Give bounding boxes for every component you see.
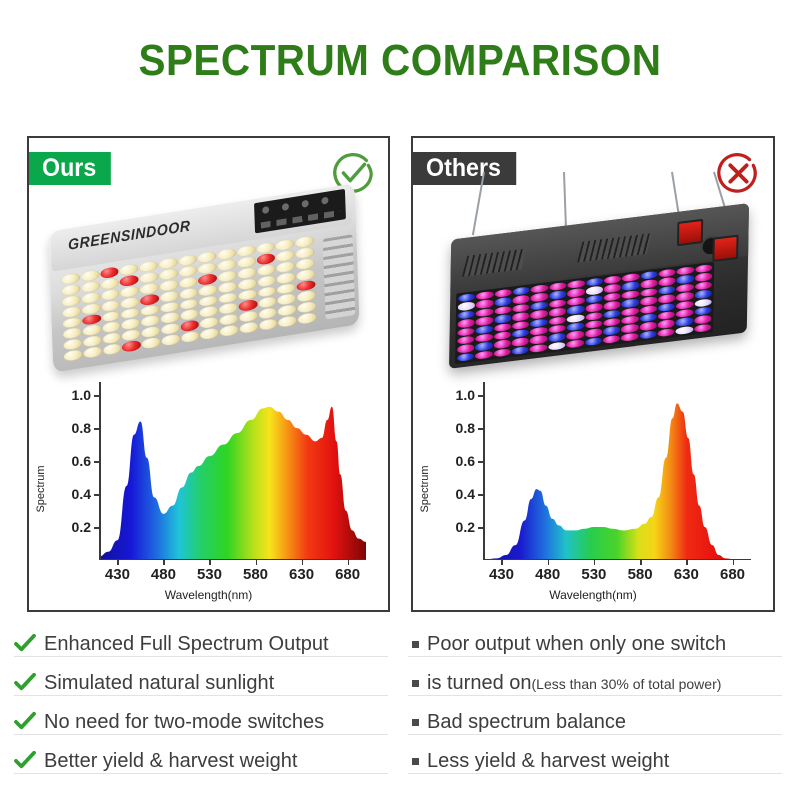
led xyxy=(676,300,693,310)
x-tick-label: 630 xyxy=(674,566,699,583)
led xyxy=(159,257,178,270)
led xyxy=(603,317,620,327)
x-tick xyxy=(640,560,642,565)
led xyxy=(658,269,675,279)
y-tick-label: 0.2 xyxy=(456,519,475,535)
led xyxy=(621,307,638,317)
led xyxy=(80,269,99,282)
led xyxy=(548,341,565,351)
led xyxy=(239,299,258,312)
led xyxy=(585,337,602,347)
led xyxy=(603,309,620,319)
y-tick-label: 0.6 xyxy=(456,453,475,469)
led xyxy=(276,260,295,273)
led xyxy=(604,284,621,294)
led xyxy=(676,325,693,335)
led xyxy=(139,271,158,284)
led xyxy=(476,316,493,326)
led xyxy=(494,331,511,341)
led xyxy=(181,331,200,344)
others-panel: Others xyxy=(411,136,775,612)
x-tick xyxy=(348,560,350,565)
led xyxy=(567,288,584,298)
led xyxy=(82,324,101,337)
led xyxy=(585,303,602,313)
y-axis-line xyxy=(483,382,485,560)
led xyxy=(512,329,529,339)
led xyxy=(296,246,315,259)
led xyxy=(297,290,316,303)
led xyxy=(295,235,314,248)
y-tick xyxy=(94,527,99,529)
led xyxy=(62,305,81,318)
others-product-photo xyxy=(413,182,773,372)
led xyxy=(694,289,711,299)
others-spectrum-chart: 0.20.40.60.81.0430480530580630680 Spectr… xyxy=(421,374,765,604)
led xyxy=(457,327,474,337)
led xyxy=(238,288,257,301)
led xyxy=(257,252,276,265)
led xyxy=(100,266,119,279)
led xyxy=(200,316,219,329)
led xyxy=(585,286,602,296)
led xyxy=(640,305,657,315)
led xyxy=(102,321,121,334)
led xyxy=(475,350,492,360)
led xyxy=(494,297,511,307)
x-tick-label: 680 xyxy=(335,566,360,583)
led xyxy=(457,335,474,345)
led xyxy=(217,259,236,272)
led xyxy=(640,279,657,289)
led xyxy=(159,279,178,292)
ours-banner-label: Ours xyxy=(42,154,96,183)
list-item-label: Simulated natural sunlight xyxy=(44,673,274,693)
square-bullet-icon xyxy=(412,758,419,765)
led xyxy=(657,328,674,338)
led xyxy=(61,283,80,296)
led xyxy=(140,293,159,306)
led xyxy=(658,311,675,321)
led xyxy=(567,330,584,340)
led xyxy=(198,251,217,264)
others-banner-label: Others xyxy=(426,154,501,183)
led xyxy=(141,304,160,317)
y-tick-label: 1.0 xyxy=(456,387,475,403)
led xyxy=(258,307,277,320)
x-tick-label: 530 xyxy=(197,566,222,583)
led xyxy=(548,333,565,343)
list-item-label: Enhanced Full Spectrum Output xyxy=(44,634,329,654)
led xyxy=(81,291,100,304)
led xyxy=(530,326,547,336)
x-axis-title: Wavelength(nm) xyxy=(421,588,765,602)
led xyxy=(81,280,100,293)
led xyxy=(278,304,297,317)
others-led-panel xyxy=(449,203,749,369)
led xyxy=(585,294,602,304)
led xyxy=(121,296,140,309)
page-title: SPECTRUM COMPARISON xyxy=(32,36,768,86)
list-item: Poor output when only one switch xyxy=(408,618,782,657)
led xyxy=(198,273,217,286)
led xyxy=(259,318,278,331)
y-tick-label: 0.8 xyxy=(72,420,91,436)
x-tick-label: 480 xyxy=(535,566,560,583)
led xyxy=(621,324,638,334)
led xyxy=(178,254,197,267)
led xyxy=(493,348,510,358)
x-tick xyxy=(209,560,211,565)
led xyxy=(694,323,711,333)
led xyxy=(82,313,101,326)
x-tick-label: 680 xyxy=(720,566,745,583)
led xyxy=(239,310,258,323)
led xyxy=(622,290,639,300)
led xyxy=(101,299,120,312)
led xyxy=(83,335,102,348)
led xyxy=(161,323,180,336)
led xyxy=(100,277,119,290)
led xyxy=(296,257,315,270)
led xyxy=(549,299,566,309)
led xyxy=(567,280,584,290)
led xyxy=(102,332,121,345)
led xyxy=(658,277,675,287)
y-tick-label: 0.8 xyxy=(456,420,475,436)
x-tick xyxy=(594,560,596,565)
led xyxy=(694,306,711,316)
led xyxy=(640,271,657,281)
led xyxy=(278,315,297,328)
led xyxy=(695,281,712,291)
led xyxy=(549,282,566,292)
x-axis-line xyxy=(483,559,751,561)
led xyxy=(237,245,256,258)
led xyxy=(585,311,602,321)
led xyxy=(603,326,620,336)
led xyxy=(62,294,81,307)
check-icon xyxy=(14,634,36,652)
led xyxy=(512,303,529,313)
led xyxy=(199,306,218,319)
led xyxy=(676,317,693,327)
led xyxy=(494,306,511,316)
led xyxy=(476,325,493,335)
led xyxy=(639,321,656,331)
led xyxy=(141,326,160,339)
led xyxy=(658,285,675,295)
led xyxy=(119,263,138,276)
led xyxy=(199,284,218,297)
check-icon xyxy=(14,673,36,691)
square-bullet-icon xyxy=(412,641,419,648)
y-tick xyxy=(478,428,483,430)
led xyxy=(457,352,474,362)
led xyxy=(219,302,238,315)
led xyxy=(297,279,316,292)
led xyxy=(621,332,638,342)
spectrum-comparison-page: SPECTRUM COMPARISON Ours GREENSINDOOR xyxy=(0,0,800,800)
led xyxy=(531,310,548,320)
led xyxy=(276,249,295,262)
x-tick xyxy=(733,560,735,565)
led xyxy=(476,308,493,318)
led xyxy=(622,273,639,283)
led xyxy=(277,282,296,295)
list-item-label: Bad spectrum balance xyxy=(427,712,626,732)
led xyxy=(567,314,584,324)
x-tick xyxy=(163,560,165,565)
led xyxy=(567,305,584,315)
led xyxy=(494,322,511,332)
led xyxy=(179,276,198,289)
list-item-label: No need for two-mode switches xyxy=(44,712,324,732)
led xyxy=(658,319,675,329)
led xyxy=(218,281,237,294)
led xyxy=(160,301,179,314)
heatsink-vents xyxy=(323,234,355,319)
y-tick xyxy=(94,494,99,496)
led xyxy=(512,346,529,356)
list-item-label: Poor output when only one switch xyxy=(427,634,726,654)
led xyxy=(122,340,141,353)
led xyxy=(676,309,693,319)
led xyxy=(677,266,694,276)
led xyxy=(277,271,296,284)
y-tick-label: 0.4 xyxy=(456,486,475,502)
led xyxy=(549,316,566,326)
led xyxy=(61,272,80,285)
greensindoor-led-panel: GREENSINDOOR xyxy=(48,183,359,372)
led xyxy=(476,291,493,301)
led xyxy=(585,320,602,330)
led xyxy=(276,238,295,251)
led xyxy=(695,264,712,274)
led xyxy=(198,262,217,275)
x-axis-title: Wavelength(nm) xyxy=(37,588,380,602)
led xyxy=(531,301,548,311)
led xyxy=(237,256,256,269)
led xyxy=(476,333,493,343)
led xyxy=(122,329,141,342)
square-bullet-icon xyxy=(412,680,419,687)
x-tick xyxy=(548,560,550,565)
led xyxy=(258,296,277,309)
led xyxy=(219,313,238,326)
led xyxy=(298,312,317,325)
led xyxy=(256,241,275,254)
led xyxy=(140,282,159,295)
x-tick xyxy=(501,560,503,565)
led xyxy=(220,324,239,337)
ours-benefit-list: Enhanced Full Spectrum OutputSimulated n… xyxy=(14,618,388,774)
led xyxy=(296,268,315,281)
led xyxy=(160,290,179,303)
led xyxy=(458,318,475,328)
x-tick-label: 630 xyxy=(289,566,314,583)
x-tick xyxy=(256,560,258,565)
led xyxy=(603,301,620,311)
others-drawback-list: Poor output when only one switchis turne… xyxy=(408,618,782,774)
list-item: Enhanced Full Spectrum Output xyxy=(14,618,388,657)
y-tick-label: 0.2 xyxy=(72,519,91,535)
x-tick-label: 580 xyxy=(628,566,653,583)
led xyxy=(513,286,530,296)
y-tick xyxy=(94,395,99,397)
led xyxy=(199,295,218,308)
led xyxy=(622,298,639,308)
list-item: Bad spectrum balance xyxy=(408,696,782,735)
x-tick xyxy=(117,560,119,565)
led xyxy=(475,342,492,352)
led xyxy=(658,294,675,304)
led xyxy=(63,338,82,351)
led xyxy=(217,248,236,261)
led xyxy=(494,339,511,349)
led xyxy=(297,301,316,314)
led xyxy=(120,274,139,287)
y-tick-label: 0.4 xyxy=(72,486,91,502)
y-tick-label: 0.6 xyxy=(72,453,91,469)
y-axis-title: Spectrum xyxy=(35,465,47,512)
led xyxy=(121,307,140,320)
led xyxy=(160,312,179,325)
led xyxy=(179,287,198,300)
y-tick-label: 1.0 xyxy=(72,387,91,403)
list-item: is turned on(Less than 30% of total powe… xyxy=(408,657,782,696)
y-tick xyxy=(94,428,99,430)
led xyxy=(530,318,547,328)
led xyxy=(120,285,139,298)
led xyxy=(531,284,548,294)
led xyxy=(586,277,603,287)
led xyxy=(121,318,140,331)
ours-product-photo: GREENSINDOOR xyxy=(29,182,388,372)
led xyxy=(567,322,584,332)
led xyxy=(458,293,475,303)
led xyxy=(101,310,120,323)
led xyxy=(566,339,583,349)
led xyxy=(83,346,102,359)
led xyxy=(676,283,693,293)
led xyxy=(603,334,620,344)
led xyxy=(530,335,547,345)
x-tick xyxy=(302,560,304,565)
check-icon xyxy=(14,751,36,769)
list-item-note: (Less than 30% of total power) xyxy=(532,676,722,692)
led xyxy=(694,315,711,325)
y-tick xyxy=(478,494,483,496)
ours-banner: Ours xyxy=(29,152,111,185)
power-switch xyxy=(677,219,703,246)
led xyxy=(676,292,693,302)
led xyxy=(101,288,120,301)
list-item-label: Better yield & harvest weight xyxy=(44,751,297,771)
led xyxy=(512,320,529,330)
led xyxy=(178,265,197,278)
led xyxy=(694,298,711,308)
led xyxy=(621,315,638,325)
led xyxy=(180,320,199,333)
led xyxy=(159,268,178,281)
ours-panel: Ours GREENSINDOOR xyxy=(27,136,390,612)
list-item: Better yield & harvest weight xyxy=(14,735,388,774)
led xyxy=(64,349,83,362)
led xyxy=(677,275,694,285)
x-tick-label: 480 xyxy=(151,566,176,583)
led xyxy=(161,334,180,347)
led xyxy=(512,312,529,322)
led xyxy=(82,302,101,315)
led xyxy=(513,295,530,305)
led xyxy=(640,296,657,306)
led xyxy=(512,337,529,347)
led xyxy=(494,289,511,299)
led xyxy=(695,272,712,282)
led xyxy=(604,275,621,285)
led xyxy=(658,302,675,312)
x-tick-label: 580 xyxy=(243,566,268,583)
led xyxy=(257,263,276,276)
others-banner: Others xyxy=(413,152,516,185)
x-tick xyxy=(686,560,688,565)
x-tick-label: 430 xyxy=(105,566,130,583)
led xyxy=(458,310,475,320)
y-axis-line xyxy=(99,382,101,560)
led xyxy=(640,313,657,323)
list-item: Less yield & harvest weight xyxy=(408,735,782,774)
y-tick xyxy=(478,395,483,397)
led xyxy=(258,285,277,298)
y-axis-title: Spectrum xyxy=(419,465,431,512)
led xyxy=(549,307,566,317)
led xyxy=(142,337,161,350)
led xyxy=(238,277,257,290)
led xyxy=(604,292,621,302)
led xyxy=(62,316,81,329)
y-tick xyxy=(94,461,99,463)
led xyxy=(567,297,584,307)
led xyxy=(103,343,122,356)
led xyxy=(458,302,475,312)
square-bullet-icon xyxy=(412,719,419,726)
list-item-label: is turned on(Less than 30% of total powe… xyxy=(427,673,721,693)
led xyxy=(278,293,297,306)
led xyxy=(219,291,238,304)
led xyxy=(549,290,566,300)
y-tick xyxy=(478,461,483,463)
x-tick-label: 530 xyxy=(581,566,606,583)
led xyxy=(494,314,511,324)
x-axis-line xyxy=(99,559,366,561)
ours-spectrum-chart: 0.20.40.60.81.0430480530580630680 Spectr… xyxy=(37,374,380,604)
led xyxy=(585,328,602,338)
led xyxy=(139,260,158,273)
led xyxy=(237,266,256,279)
led xyxy=(141,315,160,328)
led xyxy=(548,324,565,334)
list-item: Simulated natural sunlight xyxy=(14,657,388,696)
x-tick-label: 430 xyxy=(489,566,514,583)
led xyxy=(639,330,656,340)
led xyxy=(531,293,548,303)
led xyxy=(622,281,639,291)
list-item-label: Less yield & harvest weight xyxy=(427,751,669,771)
led xyxy=(180,309,199,322)
led xyxy=(239,321,258,334)
led xyxy=(257,274,276,287)
